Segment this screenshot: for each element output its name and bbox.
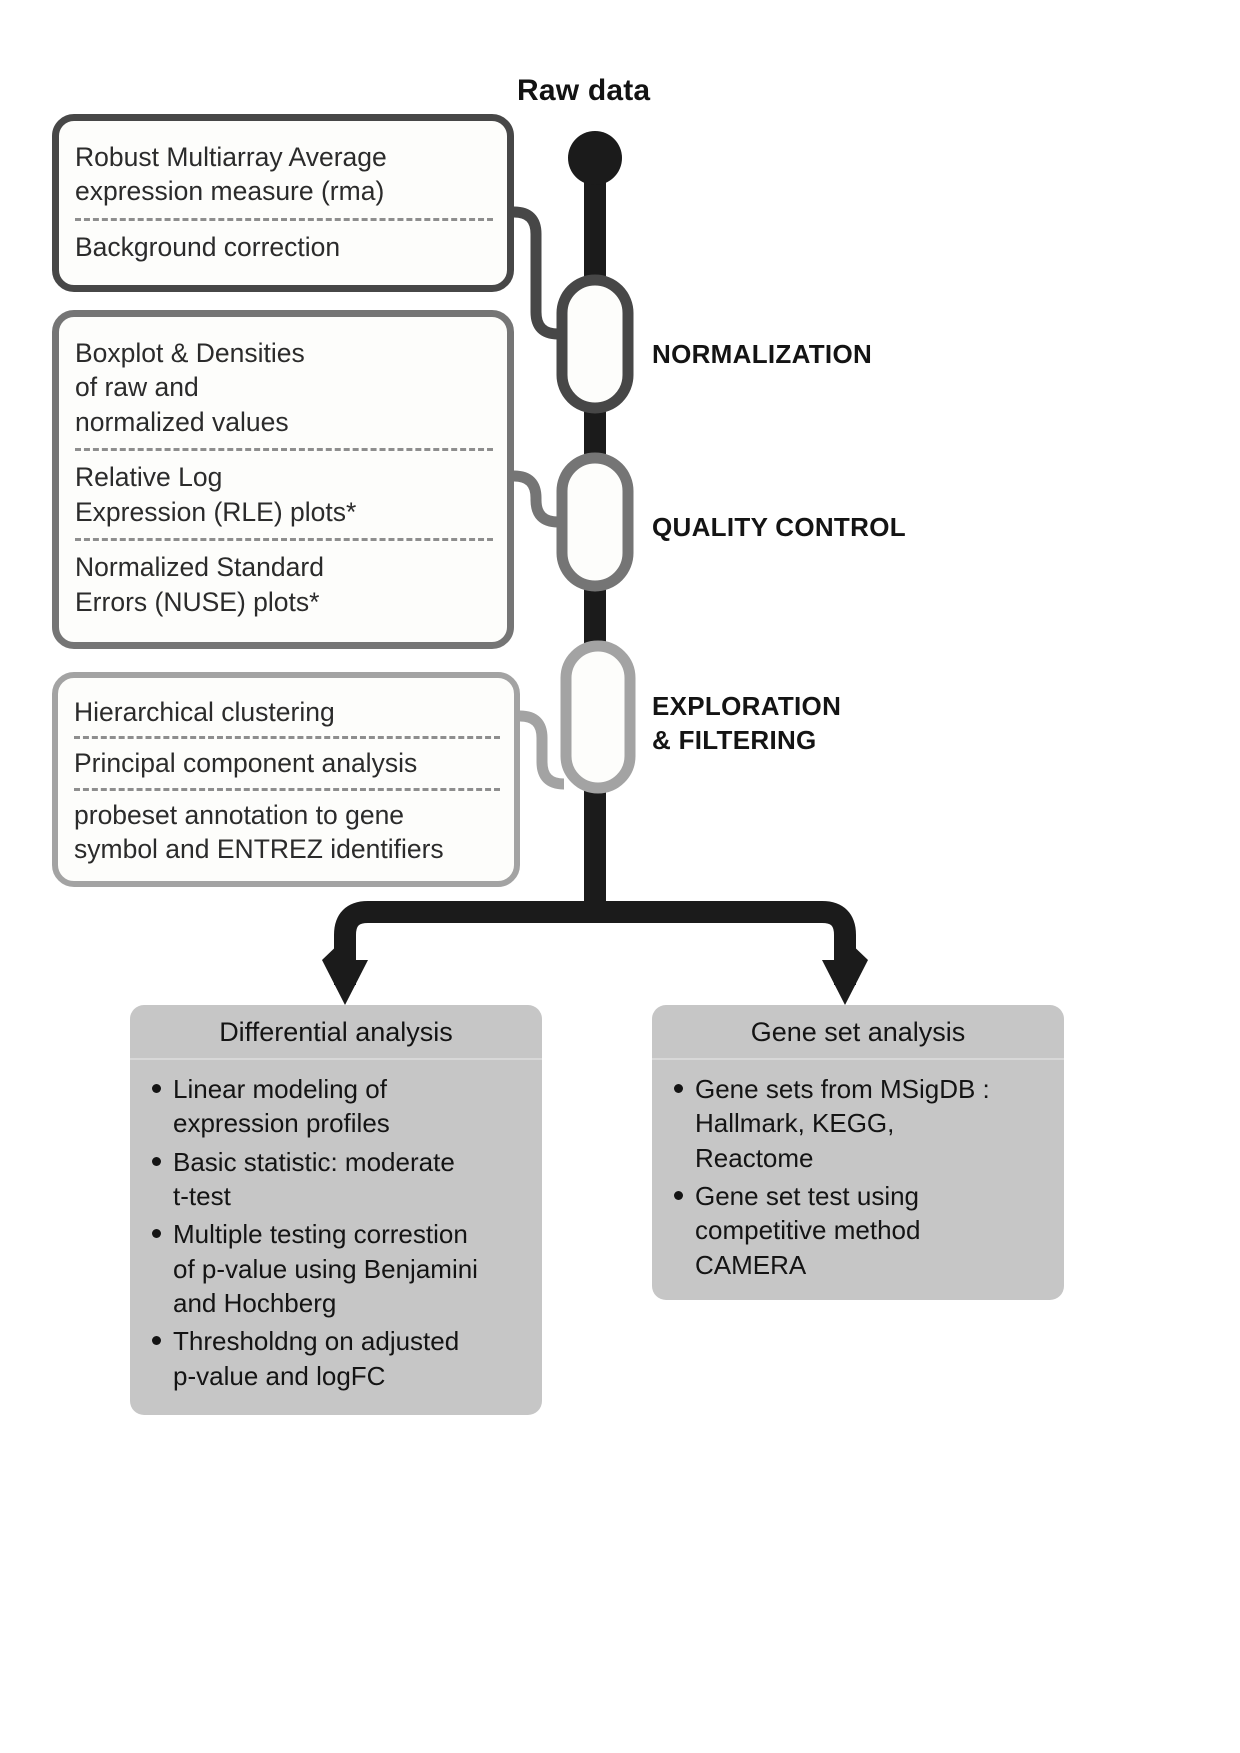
arrow-head-left: [322, 960, 368, 1005]
pill-exploration: [566, 646, 630, 788]
stage-segment: Boxplot & Densities of raw and normalize…: [75, 327, 493, 448]
stage-box-content: Robust Multiarray Average expression mea…: [59, 121, 507, 283]
stage-box-normalization[interactable]: Robust Multiarray Average expression mea…: [52, 114, 514, 292]
stage-segment: Principal component analysis: [74, 736, 500, 787]
branch-arrows: [322, 900, 868, 1005]
list-item: Basic statistic: moderate t-test: [148, 1145, 528, 1214]
connector-exploration: [520, 646, 630, 788]
output-card-differential-analysis[interactable]: Differential analysis Linear modeling of…: [130, 1005, 542, 1415]
page-title: Raw data: [517, 74, 650, 108]
stage-box-content: Boxplot & Densities of raw and normalize…: [59, 317, 507, 638]
stage-caption-quality-control: QUALITY CONTROL: [652, 511, 906, 545]
workflow-diagram: Raw data Robust Multiarray Average expre…: [0, 0, 1240, 1753]
list-item: Thresholdng on adjusted p-value and logF…: [148, 1324, 528, 1393]
stage-caption-exploration-filtering: EXPLORATION & FILTERING: [652, 690, 841, 758]
stage-segment: Robust Multiarray Average expression mea…: [75, 131, 493, 218]
pill-normalization: [562, 280, 628, 408]
stage-box-quality-control[interactable]: Boxplot & Densities of raw and normalize…: [52, 310, 514, 649]
arrow-head-right: [822, 960, 868, 1005]
stage-segment: Normalized Standard Errors (NUSE) plots*: [75, 538, 493, 628]
stage-segment: Relative Log Expression (RLE) plots*: [75, 448, 493, 538]
list-item: Gene sets from MSigDB : Hallmark, KEGG, …: [670, 1072, 1050, 1175]
raw-data-node: [568, 131, 622, 185]
stage-caption-normalization: NORMALIZATION: [652, 338, 872, 372]
stage-segment: probeset annotation to gene symbol and E…: [74, 788, 500, 874]
pill-quality-control: [562, 458, 628, 586]
stage-box-content: Hierarchical clustering Principal compon…: [58, 678, 514, 884]
card-title: Gene set analysis: [652, 1005, 1064, 1060]
bullet-list: Gene sets from MSigDB : Hallmark, KEGG, …: [652, 1060, 1064, 1300]
stage-segment: Background correction: [75, 218, 493, 273]
list-item: Multiple testing correstion of p-value u…: [148, 1217, 528, 1320]
stage-segment: Hierarchical clustering: [74, 688, 500, 736]
card-title: Differential analysis: [130, 1005, 542, 1060]
list-item: Linear modeling of expression profiles: [148, 1072, 528, 1141]
connector-normalization: [514, 212, 628, 408]
connector-quality-control: [514, 458, 628, 586]
output-card-gene-set-analysis[interactable]: Gene set analysis Gene sets from MSigDB …: [652, 1005, 1064, 1300]
list-item: Gene set test using competitive method C…: [670, 1179, 1050, 1282]
bullet-list: Linear modeling of expression profiles B…: [130, 1060, 542, 1411]
stage-box-exploration-filtering[interactable]: Hierarchical clustering Principal compon…: [52, 672, 520, 887]
